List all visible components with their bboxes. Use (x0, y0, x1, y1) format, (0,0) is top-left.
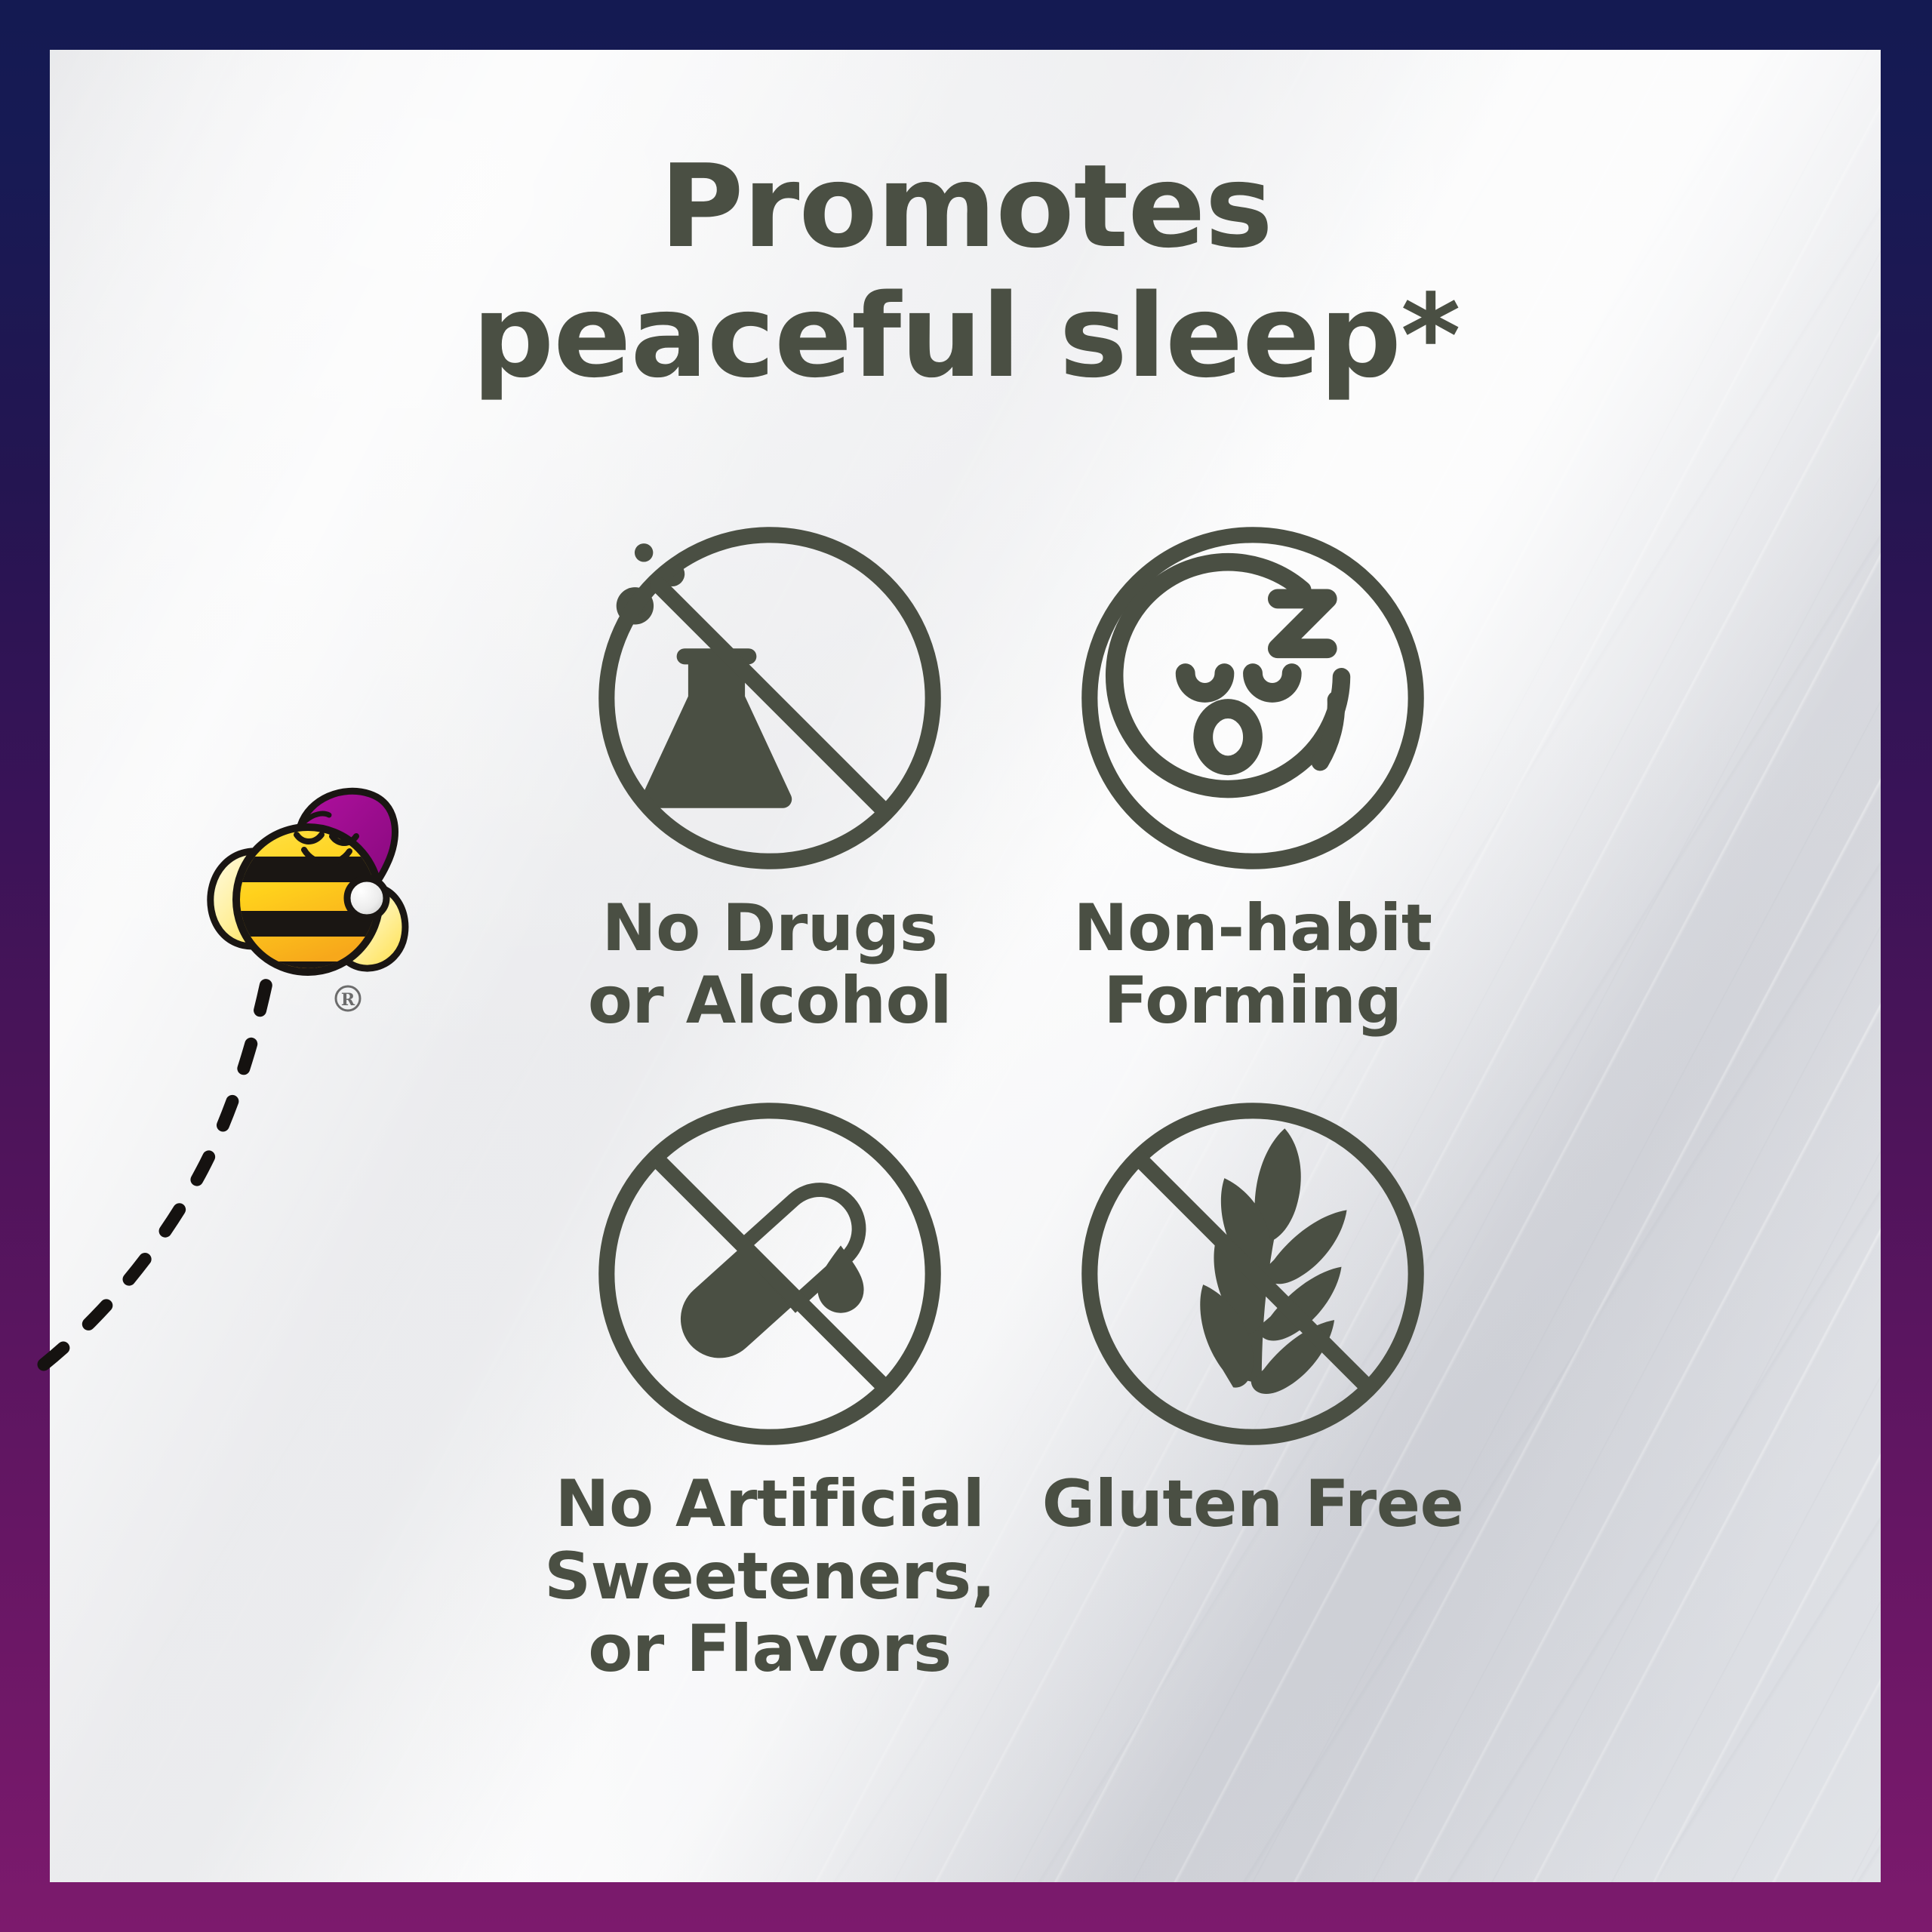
no-flask-icon (592, 521, 947, 875)
benefit-non-habit-forming: Non-habit Forming (1011, 521, 1494, 1038)
sleeping-bee-mascot (195, 771, 421, 998)
nightcap-pompom (347, 878, 386, 918)
benefits-row-2: No Artificial Sweeteners, or Flavors (528, 1097, 1494, 1686)
benefit-no-drugs-or-alcohol: No Drugs or Alcohol (528, 521, 1011, 1038)
benefit-gluten-free: Gluten Free (1011, 1097, 1494, 1686)
benefit-label: No Drugs or Alcohol (528, 892, 1011, 1038)
closed-eye-right (1253, 673, 1292, 693)
icon-wrap (1011, 1097, 1494, 1451)
page-title: Promotes peaceful sleep* (0, 142, 1932, 401)
z-letter (1278, 598, 1327, 648)
benefit-label: No Artificial Sweeteners, or Flavors (528, 1468, 1011, 1686)
benefits-row-1: No Drugs or Alcohol (528, 521, 1494, 1038)
open-mouth (1203, 709, 1253, 765)
benefits-grid: No Drugs or Alcohol (528, 521, 1494, 1686)
no-wheat-icon (1075, 1097, 1430, 1451)
registered-trademark-mark: R (332, 983, 364, 1014)
icon-wrap (528, 521, 1011, 875)
no-capsule-drop-icon (592, 1097, 947, 1451)
benefit-no-artificial-sweeteners: No Artificial Sweeteners, or Flavors (528, 1097, 1011, 1686)
benefit-label: Non-habit Forming (1011, 892, 1494, 1038)
icon-wrap (1011, 521, 1494, 875)
svg-text:R: R (341, 990, 355, 1010)
closed-eye-left (1186, 673, 1225, 693)
icon-wrap (528, 1097, 1011, 1451)
benefit-label: Gluten Free (1011, 1468, 1494, 1540)
poster-frame: Promotes peaceful sleep* (0, 0, 1932, 1932)
sleeping-face-zzz-icon (1075, 521, 1430, 875)
